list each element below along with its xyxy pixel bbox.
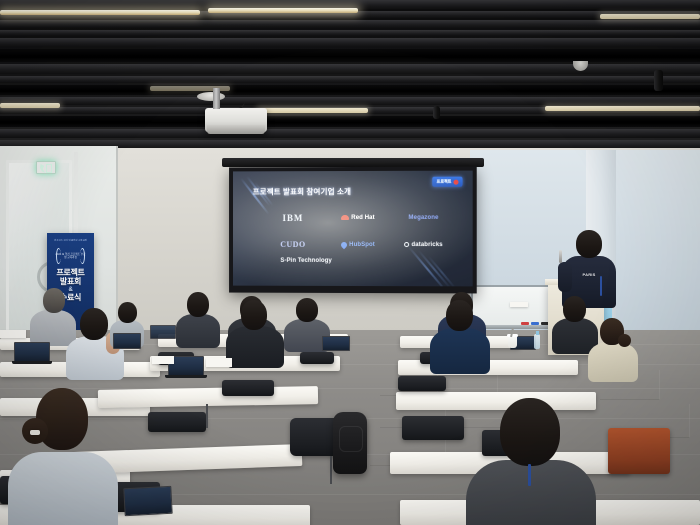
- hubspot-icon: [340, 240, 348, 248]
- laptop-device[interactable]: [113, 333, 141, 349]
- partner-logo-redhat: Red Hat: [325, 211, 390, 224]
- partner-logo-grid: IBM Red Hat Megazone CUDO: [261, 211, 457, 251]
- chair[interactable]: [398, 376, 446, 391]
- laptop-base: [165, 375, 207, 378]
- ceiling: [0, 0, 700, 152]
- slide-title: 프로젝트 발표회 참여기업 소개: [253, 186, 351, 197]
- ceiling-light-strip: [0, 10, 200, 15]
- ceiling-projector: [205, 108, 267, 132]
- attendee-back-2: [176, 292, 220, 346]
- attendee-torso: [430, 328, 490, 374]
- partner-logo-cudo: CUDO: [261, 238, 326, 251]
- attendee-head: [36, 388, 88, 450]
- whiteboard-marker: [521, 322, 529, 325]
- attendee-torso: [466, 460, 596, 525]
- laurel-left-icon: [56, 248, 61, 264]
- presenter: PARIS: [556, 228, 622, 306]
- banner-award-emblem: 2024 AI 혁신 프로젝트 수료생 교육과정: [55, 245, 86, 267]
- printed-handout: [206, 358, 232, 367]
- tablet-device[interactable]: [123, 486, 172, 516]
- chair[interactable]: [148, 412, 206, 432]
- chair-leg: [206, 404, 208, 428]
- laurel-right-icon: [80, 248, 85, 264]
- partner-logo-spin: S-Pin Technology: [280, 258, 331, 264]
- attendee-head: [446, 300, 473, 331]
- partner-logo-ibm: IBM: [261, 211, 326, 224]
- attendee-mid-3: [430, 300, 490, 372]
- tablet-device[interactable]: [14, 342, 50, 362]
- track-spotlight: [433, 106, 440, 119]
- screen-mount-bar: [222, 158, 484, 167]
- tablet-stand: [12, 361, 52, 364]
- presenter-lanyard: [600, 276, 602, 296]
- ceiling-light-strip: [545, 106, 700, 111]
- partner-logo-databricks: databricks: [391, 238, 457, 251]
- badge-dot-icon: [453, 179, 458, 184]
- chair[interactable]: [300, 352, 334, 364]
- conference-room-photo: 프로젝트 프로젝트 발표회 참여기업 소개 IBM Red Hat Megazo…: [0, 0, 700, 525]
- chair-orange[interactable]: [608, 428, 670, 474]
- hair-clip: [30, 430, 40, 435]
- table-row-3b: [98, 386, 318, 408]
- attendee-head: [118, 302, 137, 323]
- microphone-icon: [559, 250, 562, 263]
- banner-top-line: 인공지능 혁신 인재양성 교육과정: [52, 238, 89, 241]
- chair[interactable]: [402, 416, 464, 440]
- attendee-torso: [8, 452, 118, 525]
- slide-badge-label: 프로젝트: [437, 179, 452, 185]
- projection-screen: 프로젝트 프로젝트 발표회 참여기업 소개 IBM Red Hat Megazo…: [229, 167, 477, 294]
- attendee-head: [241, 300, 267, 330]
- attendee-head: [80, 308, 108, 340]
- presenter-arm: [558, 262, 572, 292]
- presentation-slide: 프로젝트 프로젝트 발표회 참여기업 소개 IBM Red Hat Megazo…: [233, 171, 473, 287]
- track-spotlight: [654, 70, 663, 91]
- databricks-icon: [404, 242, 409, 247]
- attendee-head: [43, 288, 65, 313]
- tablet-screen: [123, 486, 172, 516]
- chair[interactable]: [222, 380, 274, 396]
- backpack: [333, 412, 367, 474]
- paper-cup: [508, 336, 517, 348]
- red-hat-icon: [341, 215, 349, 220]
- attendee-mid-beige: [588, 318, 638, 380]
- attendee-head: [187, 292, 209, 317]
- ceiling-light-strip: [600, 14, 700, 19]
- hair-bun: [618, 334, 631, 347]
- partner-logo-blue-2: HubSpot: [325, 238, 390, 251]
- attendee-head: [296, 298, 318, 322]
- attendee-head: [500, 398, 560, 466]
- exit-sign: [36, 161, 56, 174]
- ceiling-light-strip: [258, 108, 368, 113]
- laptop-device[interactable]: [322, 336, 350, 351]
- laptop-screen: [322, 336, 350, 351]
- chair-leg: [330, 456, 332, 484]
- attendee-front-left: [8, 388, 118, 525]
- attendee-mid-2: [226, 300, 284, 366]
- laptop-device[interactable]: [150, 325, 176, 339]
- slide-badge: 프로젝트: [433, 177, 463, 187]
- ceiling-light-strip: [0, 103, 60, 108]
- whiteboard-marker: [531, 322, 539, 325]
- printed-handout: [152, 356, 174, 364]
- attendee-torso: [226, 326, 284, 368]
- printed-handout: [0, 330, 26, 338]
- attendee-head: [563, 296, 586, 322]
- presenter-head: [576, 230, 602, 258]
- attendee-front-right: [466, 398, 596, 525]
- ceiling-light-strip: [208, 8, 358, 13]
- attendee-torso: [176, 314, 220, 348]
- attendee-lanyard: [528, 464, 531, 486]
- exit-door-icon: [46, 164, 52, 173]
- printed-handout: [510, 302, 528, 307]
- banner-title-line2: 발표회: [50, 278, 91, 287]
- laptop-screen: [113, 333, 141, 349]
- partner-logo-blue-1: Megazone: [391, 211, 457, 224]
- laptop-screen: [150, 325, 176, 339]
- tablet-screen: [14, 342, 50, 362]
- water-bottle: [534, 334, 540, 349]
- attendee-torso: [588, 342, 638, 382]
